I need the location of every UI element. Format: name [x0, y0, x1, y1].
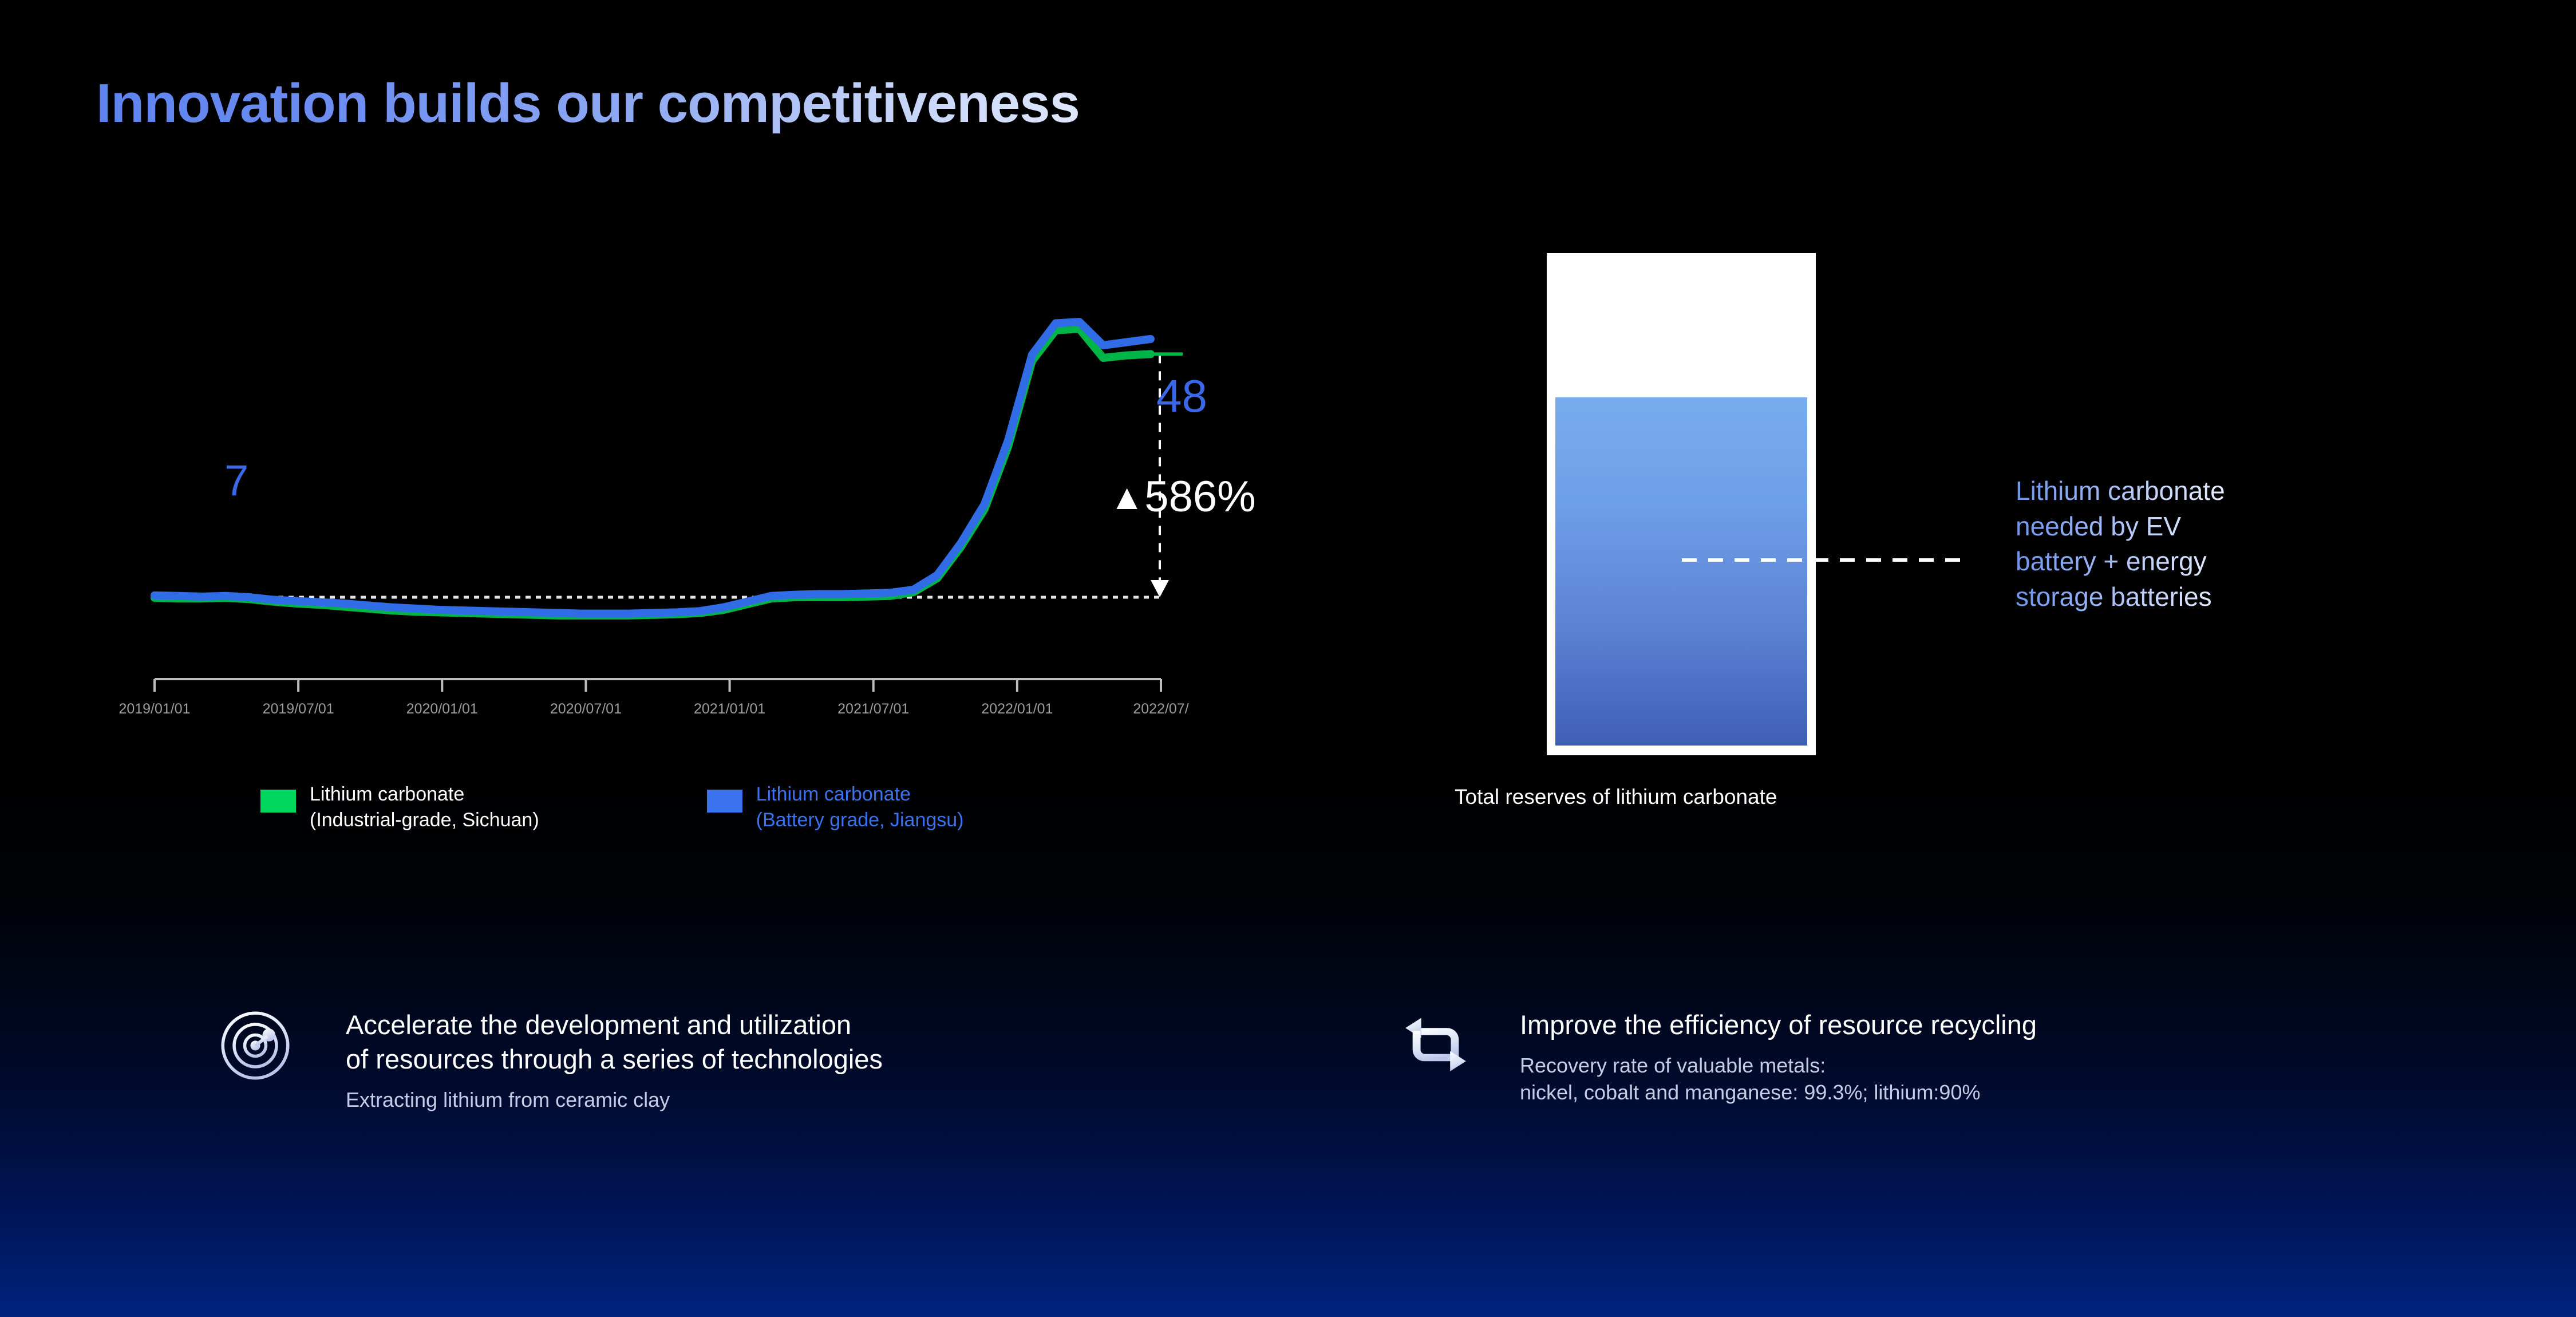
x-axis-tick-label: 2022/01/01 — [981, 701, 1053, 717]
page-title: Innovation builds our competitiveness — [96, 72, 1080, 135]
end-value-label: 48 — [1156, 373, 1207, 419]
series-line-battery — [155, 322, 1151, 613]
growth-percent-label: ▲586% — [1109, 475, 1256, 519]
price-chart-panel: 7 48 ▲586% 2019/01/012019/07/012020/01/0… — [143, 240, 1288, 870]
x-axis-tick-label: 2022/07/ — [1133, 701, 1188, 717]
legend-label-battery: Lithium carbonate (Battery grade, Jiangs… — [756, 782, 964, 833]
legend-item-battery[interactable]: Lithium carbonate (Battery grade, Jiangs… — [707, 782, 964, 833]
feature-body-recycling: Improve the efficiency of resource recyc… — [1520, 1008, 2037, 1106]
feature-block-resources: Accelerate the development and utilizati… — [218, 1008, 883, 1114]
legend-swatch-battery — [707, 790, 742, 813]
reserves-fill-bar — [1555, 397, 1807, 746]
x-axis-tick-label: 2020/01/01 — [406, 701, 478, 717]
radar-target-icon — [218, 1008, 293, 1086]
x-axis-tick-label: 2021/01/01 — [694, 701, 765, 717]
feature-headline-resources: Accelerate the development and utilizati… — [346, 1008, 883, 1077]
reserves-caption: Total reserves of lithium carbonate — [1455, 785, 1777, 809]
legend-swatch-industrial — [260, 790, 296, 813]
start-value-label: 7 — [224, 459, 248, 503]
feature-body-resources: Accelerate the development and utilizati… — [346, 1008, 883, 1114]
series-line-industrial — [155, 329, 1151, 616]
reserves-connector-dashes — [1682, 558, 1966, 562]
recycle-arrows-icon — [1400, 1008, 1472, 1083]
reserves-demand-note: Lithium carbonate needed by EV battery +… — [2016, 474, 2225, 615]
reserves-container — [1547, 253, 1816, 755]
growth-arrow-icon — [1151, 580, 1169, 597]
feature-block-recycling: Improve the efficiency of resource recyc… — [1400, 1008, 2037, 1106]
growth-percent-value: 586% — [1144, 472, 1255, 521]
x-axis-tick-label: 2019/01/01 — [118, 701, 190, 717]
x-axis-tick-label: 2019/07/01 — [263, 701, 334, 717]
growth-triangle-icon: ▲ — [1109, 478, 1144, 517]
x-axis — [155, 679, 1161, 692]
feature-headline-recycling: Improve the efficiency of resource recyc… — [1520, 1008, 2037, 1042]
legend-item-industrial[interactable]: Lithium carbonate (Industrial-grade, Sic… — [260, 782, 539, 833]
legend-label-industrial: Lithium carbonate (Industrial-grade, Sic… — [310, 782, 539, 833]
slide-root: Innovation builds our competitiveness 7 … — [0, 0, 2576, 1317]
feature-subtext-recycling: Recovery rate of valuable metals: nickel… — [1520, 1052, 2037, 1106]
x-axis-tick-label: 2021/07/01 — [837, 701, 909, 717]
x-axis-tick-label: 2020/07/01 — [550, 701, 622, 717]
chart-legend: Lithium carbonate (Industrial-grade, Sic… — [260, 782, 964, 833]
feature-subtext-resources: Extracting lithium from ceramic clay — [346, 1087, 883, 1114]
